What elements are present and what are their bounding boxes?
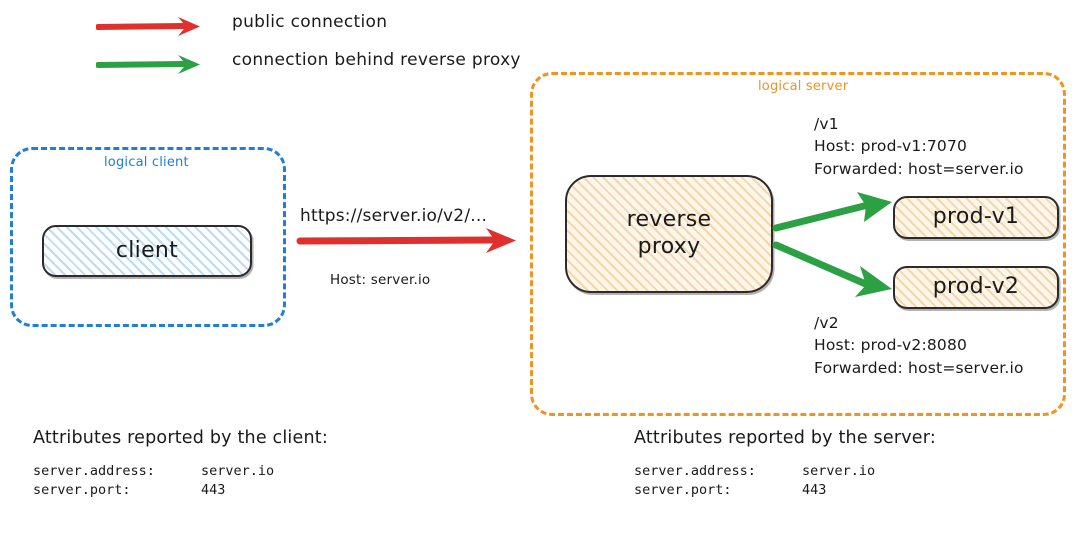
legend-label-proxy: connection behind reverse proxy	[232, 50, 521, 70]
legend-arrow-public	[96, 14, 206, 42]
route-forwarded-v2: Forwarded: host=server.io	[814, 357, 1024, 379]
reverse-proxy-node[interactable]: reverse proxy	[565, 175, 773, 293]
route-host-v2: Host: prod-v2:8080	[814, 334, 1024, 356]
attr-value: server.io	[802, 462, 875, 481]
table-row: server.port: 443	[634, 481, 875, 500]
table-row: server.address: server.io	[634, 462, 875, 481]
reverse-proxy-line1: reverse	[627, 207, 712, 232]
route-annotation-v1: /v1 Host: prod-v1:7070 Forwarded: host=s…	[814, 113, 1024, 180]
table-row: server.address: server.io	[33, 462, 274, 481]
route-path-v1: /v1	[814, 113, 1024, 135]
client-attributes-panel: Attributes reported by the client: serve…	[33, 428, 328, 499]
reverse-proxy-line2: proxy	[638, 234, 701, 259]
backend-label-prod-v2: prod-v2	[933, 274, 1019, 301]
client-node-label: client	[116, 238, 178, 265]
backend-node-prod-v1[interactable]: prod-v1	[893, 196, 1059, 239]
backend-node-prod-v2[interactable]: prod-v2	[893, 266, 1059, 309]
attr-key: server.address:	[33, 462, 201, 481]
legend-label-public: public connection	[232, 12, 387, 32]
server-attributes-panel: Attributes reported by the server: serve…	[634, 428, 936, 499]
logical-client-label: logical client	[98, 155, 195, 170]
server-attributes-title: Attributes reported by the server:	[634, 428, 936, 448]
attr-value: 443	[802, 481, 875, 500]
attr-key: server.address:	[634, 462, 802, 481]
client-node[interactable]: client	[42, 225, 252, 277]
green-arrow-icon	[96, 52, 206, 76]
public-edge-url: https://server.io/v2/...	[300, 206, 487, 226]
client-attributes-table: server.address: server.io server.port: 4…	[33, 462, 274, 499]
attr-value: server.io	[201, 462, 274, 481]
server-attributes-table: server.address: server.io server.port: 4…	[634, 462, 875, 499]
backend-label-prod-v1: prod-v1	[933, 204, 1019, 231]
route-annotation-v2: /v2 Host: prod-v2:8080 Forwarded: host=s…	[814, 312, 1024, 379]
route-forwarded-v1: Forwarded: host=server.io	[814, 158, 1024, 180]
attr-key: server.port:	[33, 481, 201, 500]
red-arrow-icon	[96, 14, 206, 38]
attr-value: 443	[201, 481, 274, 500]
logical-server-label: logical server	[752, 79, 854, 94]
table-row: server.port: 443	[33, 481, 274, 500]
public-connection-arrow	[300, 228, 516, 253]
route-path-v2: /v2	[814, 312, 1024, 334]
legend-arrow-proxy	[96, 52, 206, 80]
route-host-v1: Host: prod-v1:7070	[814, 135, 1024, 157]
attr-key: server.port:	[634, 481, 802, 500]
client-attributes-title: Attributes reported by the client:	[33, 428, 328, 448]
public-edge-host: Host: server.io	[330, 272, 430, 288]
diagram-canvas: public connection connection behind reve…	[0, 0, 1080, 537]
